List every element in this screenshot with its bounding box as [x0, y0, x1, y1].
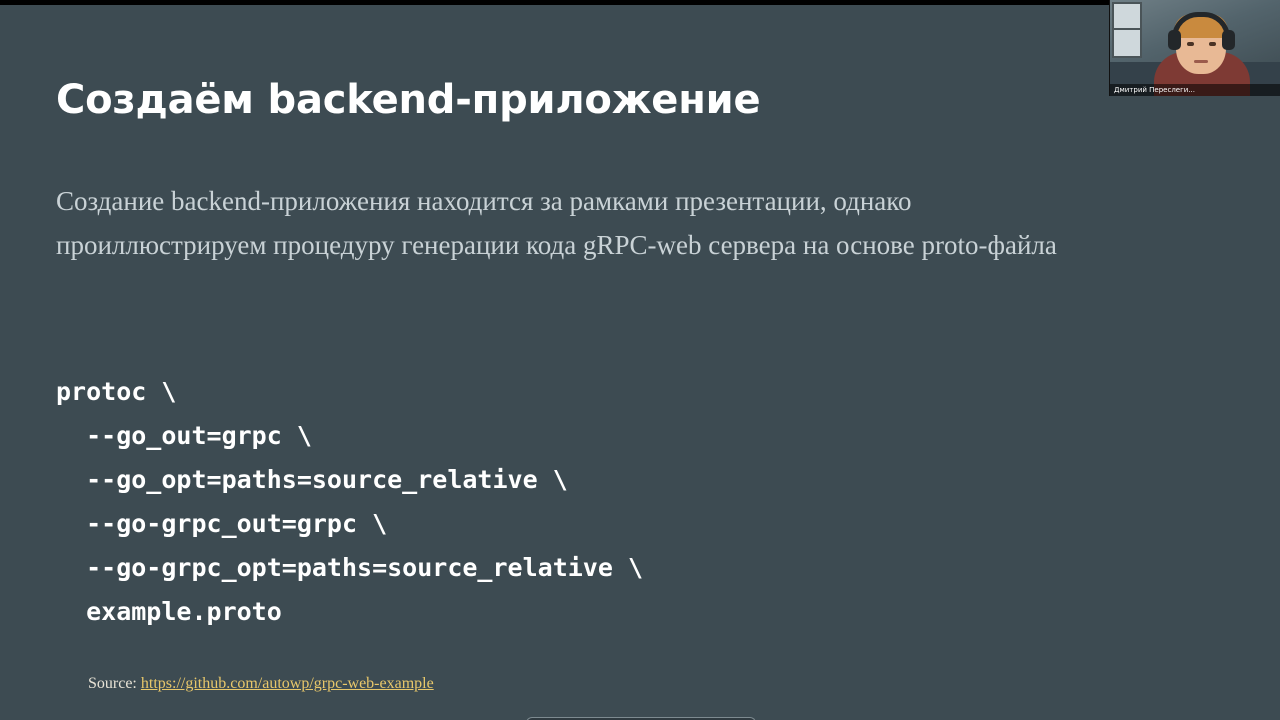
person-eye-left — [1187, 42, 1194, 46]
slide-paragraph: Создание backend-приложения находится за… — [56, 179, 1096, 267]
window-icon — [1112, 2, 1142, 58]
slide-canvas: Создаём backend-приложение Создание back… — [0, 5, 1280, 720]
person-eye-right — [1209, 42, 1216, 46]
headphone-earcup-right-icon — [1222, 30, 1235, 50]
code-block: protoc \ --go_out=grpc \ --go_opt=paths=… — [56, 370, 643, 634]
source-link[interactable]: https://github.com/autowp/grpc-web-examp… — [141, 675, 434, 692]
slide-title: Создаём backend-приложение — [56, 77, 760, 123]
presentation-viewer: Создаём backend-приложение Создание back… — [0, 0, 1280, 720]
person-mouth — [1194, 60, 1208, 63]
source-line: Source: https://github.com/autowp/grpc-w… — [88, 675, 434, 693]
webcam-overlay[interactable]: Дмитрий Переслеги... — [1109, 0, 1280, 96]
source-label: Source: — [88, 675, 137, 692]
headphone-earcup-left-icon — [1168, 30, 1181, 50]
participant-name-label: Дмитрий Переслеги... — [1110, 84, 1280, 96]
